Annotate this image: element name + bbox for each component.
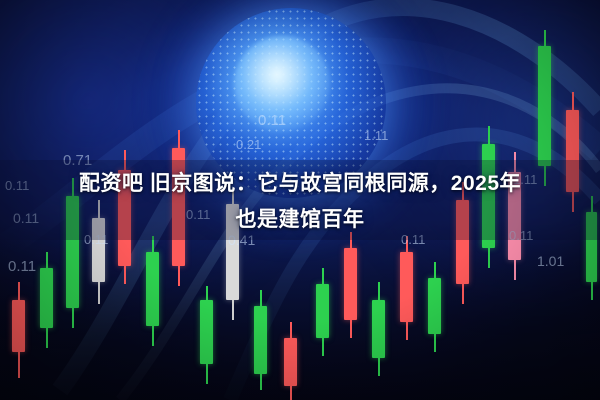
headline-text: 配资吧 旧京图说：它与故宫同根同源，2025年 也是建馆百年 bbox=[0, 160, 600, 240]
price-label: 1.01 bbox=[537, 253, 564, 269]
price-label: 1.11 bbox=[364, 128, 388, 143]
price-label: 0.11 bbox=[8, 258, 36, 275]
stock-market-banner-image: 0.111.110.210.710.111.110.110.110.410.11… bbox=[0, 0, 600, 400]
price-label: 0.21 bbox=[236, 137, 261, 152]
price-label: 0.11 bbox=[258, 112, 286, 129]
headline-line-1: 配资吧 旧京图说：它与故宫同根同源，2025年 bbox=[79, 167, 521, 197]
background-bottom-shade bbox=[0, 220, 600, 400]
headline-line-2: 也是建馆百年 bbox=[236, 203, 365, 233]
